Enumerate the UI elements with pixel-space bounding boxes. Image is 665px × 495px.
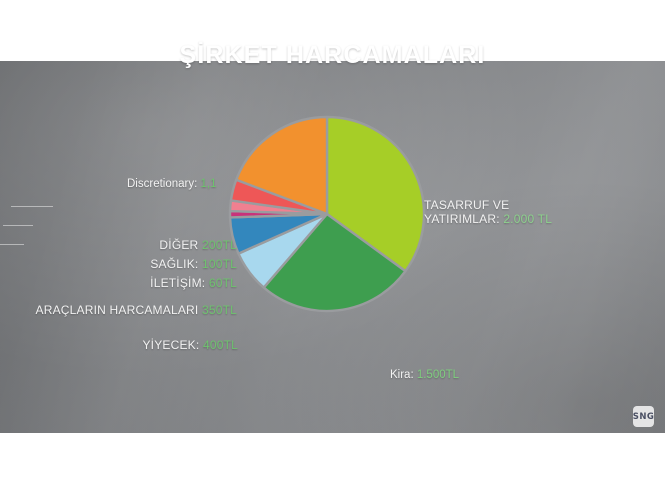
- slice-label-diger-name: DİĞER: [159, 238, 202, 252]
- leader-line-saglik: [3, 225, 33, 226]
- watermark-logo: SNG: [633, 406, 654, 427]
- leader-line-diger: [11, 206, 53, 207]
- screenshot-stage: ŞİRKET HARCAMALARI Discretionary: 1,1 TA…: [0, 0, 665, 495]
- slice-label-tasarruf-ve-yatirimlar: TASARRUF VE YATIRIMLAR: 2.000 TL: [424, 198, 552, 226]
- slice-label-diger-value: 200TL: [202, 238, 237, 252]
- slice-label-yiyecek-value: 400TL: [203, 338, 238, 352]
- leader-line-iletisim: [0, 244, 24, 245]
- slice-label-discretionary-value: 1,1: [201, 178, 217, 190]
- page-title: ŞİRKET HARCAMALARI: [0, 41, 665, 70]
- slice-label-discretionary-name: Discretionary:: [127, 178, 201, 190]
- slice-label-saglik-name: SAĞLIK:: [150, 257, 202, 271]
- slice-label-araclarin-name: ARAÇLARIN HARCAMALARI: [36, 303, 202, 317]
- pie-chart-svg: [227, 114, 427, 314]
- slice-label-saglik-value: 100TL: [202, 257, 237, 271]
- slice-label-kira-value: 1.500TL: [417, 369, 459, 381]
- slice-label-iletisim-name: İLETİŞİM:: [150, 276, 209, 290]
- slice-label-discretionary: Discretionary: 1,1: [127, 177, 217, 191]
- slice-label-yiyecek-name: YİYECEK:: [142, 338, 203, 352]
- slice-label-tasarruf-line2-wrap: YATIRIMLAR: 2.000 TL: [424, 212, 552, 226]
- slice-label-araclarin-harcamalari: ARAÇLARIN HARCAMALARI 350TL: [20, 303, 237, 317]
- slice-label-yiyecek: YİYECEK: 400TL: [100, 338, 238, 352]
- slice-label-diger: DİĞER 200TL: [141, 238, 237, 252]
- slice-label-iletisim-value: 60TL: [209, 276, 237, 290]
- slice-label-tasarruf-value: 2.000 TL: [503, 212, 552, 226]
- slice-label-kira: Kira: 1.500TL: [390, 368, 459, 382]
- slice-label-iletisim: İLETİŞİM: 60TL: [107, 276, 237, 290]
- pie-chart: [227, 114, 427, 314]
- slice-label-tasarruf-line1: TASARRUF VE: [424, 198, 552, 212]
- slice-label-araclarin-value: 350TL: [202, 303, 237, 317]
- slice-label-kira-name: Kira:: [390, 369, 417, 381]
- slice-label-saglik: SAĞLIK: 100TL: [119, 257, 237, 271]
- slice-label-tasarruf-line2: YATIRIMLAR:: [424, 212, 503, 226]
